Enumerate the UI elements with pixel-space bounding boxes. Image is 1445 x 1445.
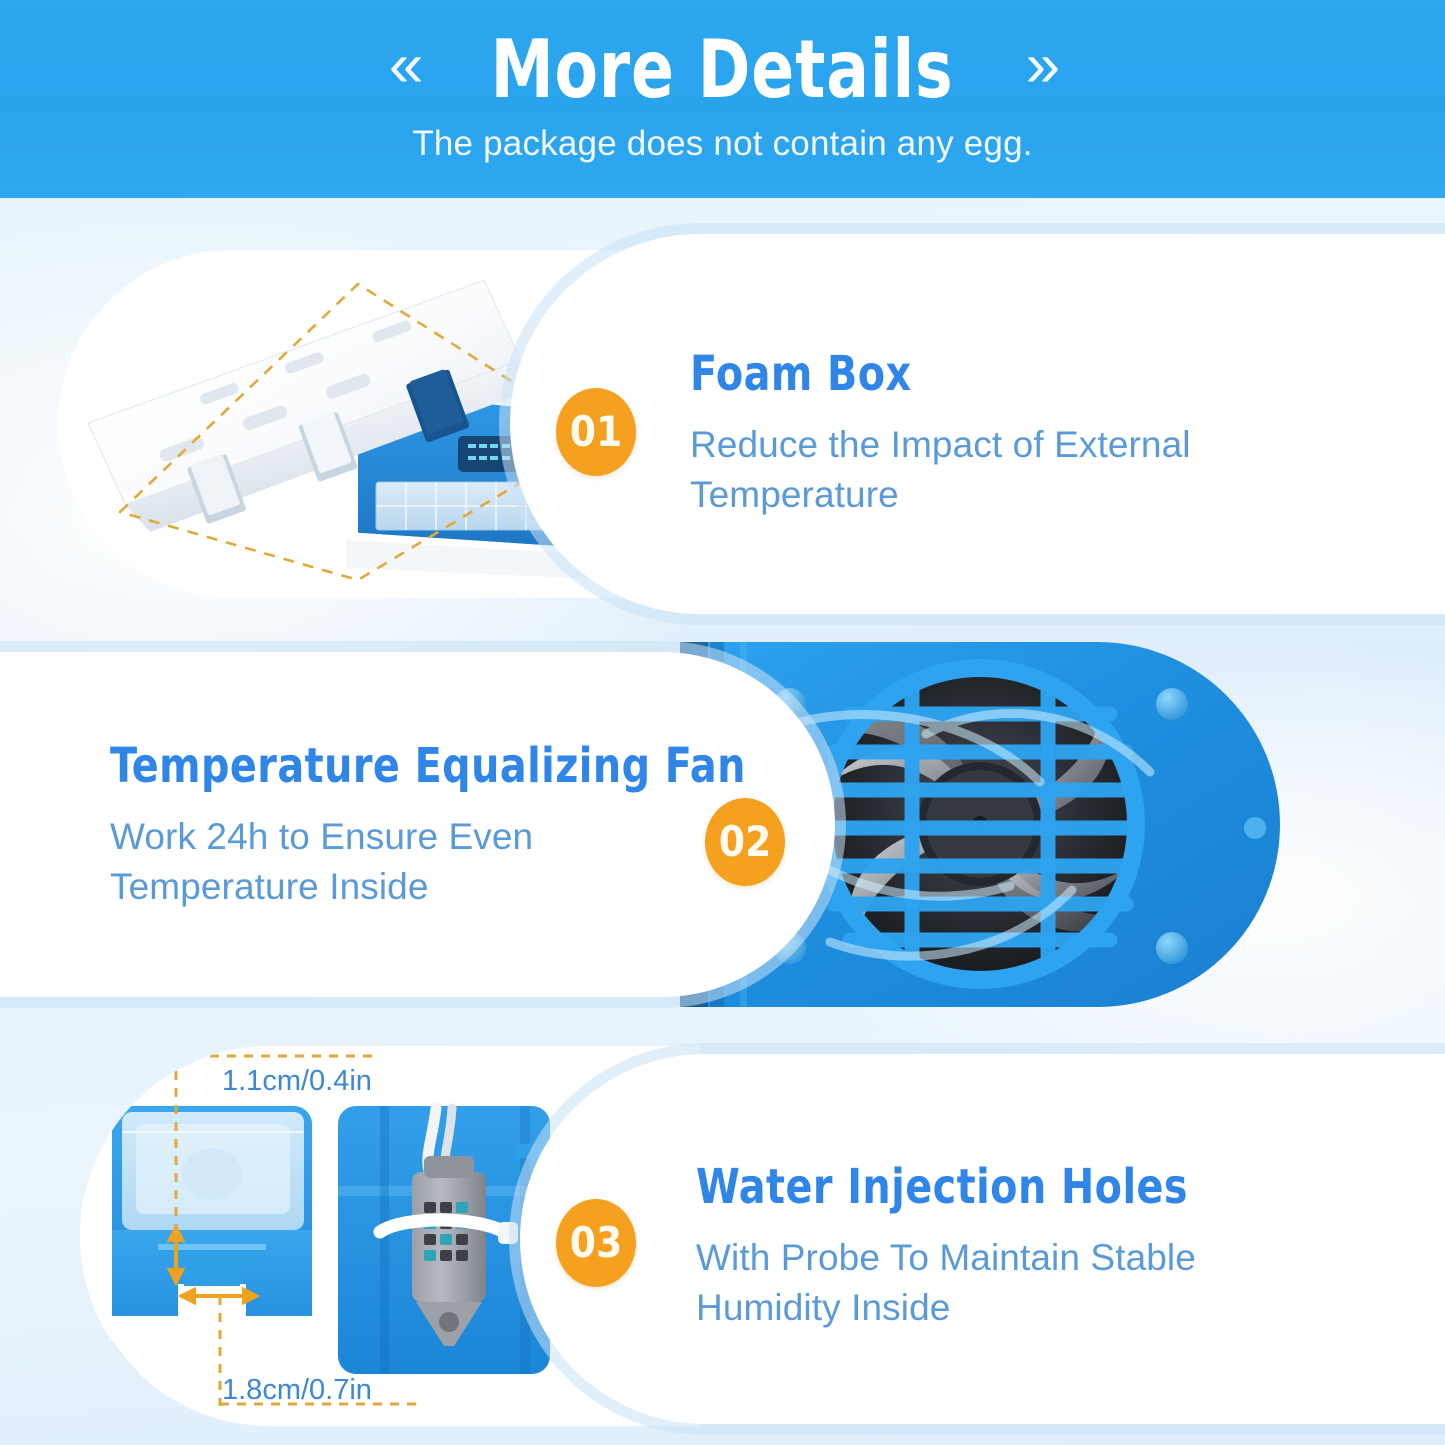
feature-02-description: Work 24h to Ensure Even Temperature Insi…: [110, 812, 670, 912]
feature-02-badge: 02: [705, 798, 785, 886]
feature-01-badge: 01: [556, 388, 636, 476]
feature-03-badge: 03: [556, 1199, 636, 1287]
infographic-page: « More Details » The package does not co…: [0, 0, 1445, 1445]
dimension-label-top: 1.1cm/0.4in: [222, 1064, 372, 1098]
feature-row-01: 01 Foam Box Reduce the Impact of Externa…: [0, 198, 1445, 622]
feature-01-title: Foam Box: [690, 348, 1205, 400]
chevron-left-icon: «: [389, 35, 419, 97]
feature-01-description: Reduce the Impact of External Temperatur…: [690, 420, 1250, 520]
header-title-row: « More Details »: [0, 22, 1445, 118]
feature-row-02: Temperature Equalizing Fan Work 24h to E…: [0, 622, 1445, 1026]
chevron-right-icon: »: [1026, 35, 1056, 97]
feature-03-description: With Probe To Maintain Stable Humidity I…: [696, 1233, 1296, 1333]
page-header-banner: « More Details » The package does not co…: [0, 0, 1445, 198]
feature-02-title: Temperature Equalizing Fan: [110, 740, 746, 792]
feature-03-title: Water Injection Holes: [696, 1161, 1248, 1213]
page-title: More Details: [491, 27, 954, 113]
header-subtitle: The package does not contain any egg.: [0, 122, 1445, 166]
dimension-label-bottom: 1.8cm/0.7in: [222, 1373, 372, 1407]
feature-row-03: 1.1cm/0.4in 1.8cm/0.7in 03 Water Injecti…: [0, 1026, 1445, 1445]
